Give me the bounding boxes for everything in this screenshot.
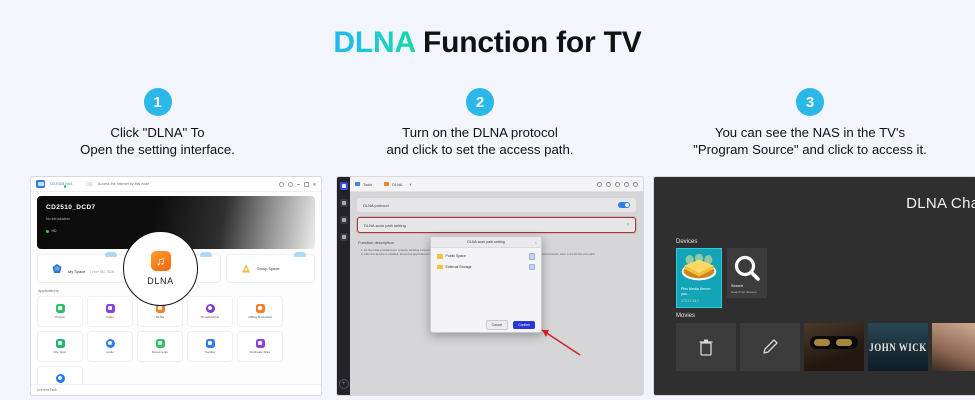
dialog-item-public-space[interactable]: Public Space	[437, 253, 535, 260]
devices-section-label: Devices	[676, 239, 697, 245]
row-label: DLNA protocol	[363, 203, 389, 208]
samba-icon	[206, 339, 215, 348]
search-sub-label: Search for devices	[731, 290, 757, 294]
space-card-group-space[interactable]: Group Space	[226, 254, 315, 283]
checkbox[interactable]	[529, 264, 536, 271]
app-label: Picture	[55, 315, 65, 319]
video-icon	[106, 304, 115, 313]
tv-heading: DLNA Chan	[906, 195, 975, 212]
row-label: DLNA scan path setting	[364, 223, 406, 228]
settings-main: Tools DLNA ▼ DLNA protocol	[350, 177, 643, 395]
my-space-label: My Space	[68, 269, 85, 274]
internet-node-label: Access the Internet by this node	[98, 182, 149, 186]
page-title-rest: Function for TV	[415, 26, 642, 59]
magnifier-callout: ♫ DLNA	[123, 231, 198, 306]
pencil-icon	[761, 338, 779, 356]
my-space-sub: 1 Free 440.78GB	[90, 270, 114, 274]
infographic-page: DLNA Function for TV 1 Click "DLNA" To O…	[0, 0, 975, 400]
app-sidebar: +	[337, 177, 350, 395]
app-label: Audio	[106, 350, 114, 354]
dlna-settings-window: + Tools DLNA ▼ DL	[337, 177, 643, 395]
space-card-my-space[interactable]: My Space 1 Free 440.78GB	[37, 254, 126, 283]
movie-poster-1[interactable]	[804, 323, 864, 371]
settings-icon[interactable]	[606, 182, 611, 187]
nas-device-status: HD	[46, 229, 306, 233]
app-label: Offline Download	[248, 315, 272, 319]
window-controls[interactable]	[597, 182, 638, 187]
chevron-right-icon: ›	[627, 222, 629, 228]
dialog-close-icon[interactable]: ×	[535, 240, 537, 245]
current-task-bar[interactable]: Current Task	[31, 384, 321, 395]
internet-node-toggle[interactable]	[85, 182, 93, 186]
app-label: Video	[106, 315, 114, 319]
group-space-label: Group Space	[257, 266, 280, 271]
movie-tile-edit[interactable]	[740, 323, 800, 371]
step-badge-2: 2	[466, 88, 494, 116]
app-tile-duplicate-files[interactable]: Duplicate Files	[237, 331, 283, 362]
minimize-icon[interactable]	[297, 184, 300, 185]
page-title: DLNA Function for TV	[0, 26, 975, 60]
files-icon	[342, 201, 346, 205]
page-title-highlight: DLNA	[333, 26, 414, 59]
folder-icon	[437, 265, 443, 270]
sidebar-item-apps[interactable]	[340, 233, 348, 241]
screenshot-step-2: + Tools DLNA ▼ DL	[336, 176, 644, 396]
help-icon[interactable]	[279, 182, 284, 187]
gear-icon	[342, 218, 346, 222]
tab-bar: Tools DLNA ▼	[350, 177, 643, 192]
my-space-icon	[51, 263, 63, 275]
current-task-label: Current Task	[37, 388, 57, 392]
dialog-footer: Cancel Confirm	[431, 318, 541, 332]
step-badge-1: 1	[144, 88, 172, 116]
tv-dlna-channel: DLNA Chan Devices Plex Media Server: pos…	[654, 177, 975, 395]
dialog-item-external-storage[interactable]: External Storage	[437, 264, 535, 271]
app-label: TimeMachine	[201, 315, 219, 319]
tab-tools[interactable]: Tools	[355, 182, 372, 187]
audio-icon	[106, 339, 115, 348]
app-tile-video[interactable]: Video	[87, 296, 133, 327]
maximize-icon[interactable]	[624, 182, 629, 187]
confirm-button[interactable]: Confirm	[513, 321, 535, 329]
row-dlna-protocol[interactable]: DLNA protocol	[357, 198, 636, 212]
movies-row: JOHN WICK	[676, 323, 975, 371]
dialog-item-label: Public Space	[446, 254, 466, 258]
movie-poster-3[interactable]	[932, 323, 975, 371]
movie-tile-delete[interactable]	[676, 323, 736, 371]
devices-tiles: Plex Media Server: pos... 172.27.13.7 Se…	[676, 248, 767, 308]
magnifier-label: DLNA	[147, 276, 173, 286]
app-tile-audio[interactable]: Audio	[87, 331, 133, 362]
sidebar-item-files[interactable]	[340, 199, 348, 207]
step-badge-3: 3	[796, 88, 824, 116]
row-dlna-scan-path[interactable]: DLNA scan path setting ›	[357, 217, 636, 233]
app-tile-timemachine[interactable]: TimeMachine	[187, 296, 233, 327]
nas-brand-label: CD-ROM NAS	[50, 182, 73, 186]
app-label: Samba	[205, 350, 215, 354]
sidebar-item-settings[interactable]	[340, 216, 348, 224]
tab-label: DLNA	[392, 182, 402, 187]
nas-online-dot-icon	[64, 185, 67, 188]
search-tile[interactable]: Search Search for devices	[727, 248, 767, 298]
app-tile-file-sync[interactable]: File Sync	[37, 331, 83, 362]
tab-overflow-icon[interactable]: ▼	[408, 182, 412, 187]
sidebar-item-home[interactable]	[340, 182, 348, 190]
settings-content: DLNA protocol DLNA scan path setting › F…	[350, 192, 643, 395]
movie-poster-john-wick[interactable]: JOHN WICK	[868, 323, 928, 371]
app-tile-offline-download[interactable]: Offline Download	[237, 296, 283, 327]
close-icon[interactable]	[633, 182, 638, 187]
documents-icon	[156, 339, 165, 348]
dlna-app-icon: ♫	[151, 251, 171, 271]
dlna-protocol-toggle[interactable]	[618, 202, 630, 208]
step-caption-3: You can see the NAS in the TV's "Program…	[693, 125, 927, 158]
offline-download-icon	[256, 304, 265, 313]
dialog-item-label: External Storage	[446, 265, 472, 269]
checkbox[interactable]	[529, 253, 536, 260]
tools-tab-icon	[355, 182, 360, 187]
app-tile-documents[interactable]: Documents	[137, 331, 183, 362]
device-tile-plex[interactable]: Plex Media Server: pos... 172.27.13.7	[676, 248, 722, 308]
tab-label: Tools	[363, 182, 372, 187]
app-tile-picture[interactable]: Picture	[37, 296, 83, 327]
movies-section-label: Movies	[676, 313, 695, 319]
step-caption-2: Turn on the DLNA protocol and click to s…	[387, 125, 574, 158]
folder-icon	[437, 254, 443, 259]
nas-desktop-window: CD-ROM NAS Access the Internet by this n…	[31, 177, 321, 395]
add-icon[interactable]: +	[339, 379, 349, 389]
trash-icon	[698, 338, 714, 356]
app-tile-samba[interactable]: Samba	[187, 331, 233, 362]
applications-grid: Picture Video DLNA TimeMachine Offline D…	[37, 296, 315, 396]
dialog-titlebar: DLNA scan path setting ×	[431, 237, 541, 248]
device-ip: 172.27.13.7	[681, 299, 699, 303]
recycle-bin-icon	[56, 374, 65, 383]
app-label: Duplicate Files	[250, 350, 270, 354]
nas-window-titlebar: CD-ROM NAS Access the Internet by this n…	[31, 177, 321, 192]
plex-media-server-icon	[679, 254, 719, 284]
device-name: Plex Media Server: pos...	[681, 287, 719, 297]
nas-logo-icon	[36, 180, 45, 188]
minimize-icon[interactable]	[615, 182, 620, 187]
screenshot-step-1: CD-ROM NAS Access the Internet by this n…	[30, 176, 322, 396]
tab-dlna[interactable]: DLNA	[384, 182, 402, 187]
nas-device-intro: No introduction	[46, 217, 306, 221]
timemachine-icon	[206, 304, 215, 313]
search-label: Search	[731, 284, 743, 288]
nas-device-name: CD2510_DCD7	[46, 204, 306, 211]
home-icon	[342, 184, 346, 188]
group-space-icon	[240, 263, 252, 275]
dlna-tab-icon	[384, 182, 389, 187]
help-icon[interactable]	[597, 182, 602, 187]
duplicate-files-icon	[256, 339, 265, 348]
cancel-button[interactable]: Cancel	[486, 320, 509, 330]
picture-icon	[56, 304, 65, 313]
file-sync-icon	[56, 339, 65, 348]
dialog-title: DLNA scan path setting	[467, 240, 505, 244]
app-label: File Sync	[54, 350, 67, 354]
app-label: DLNA	[156, 315, 164, 319]
step-caption-1: Click "DLNA" To Open the setting interfa…	[80, 125, 235, 158]
maximize-icon[interactable]	[304, 182, 309, 187]
screenshot-step-3: DLNA Chan Devices Plex Media Server: pos…	[653, 176, 975, 396]
dialog-body: Public Space External Storage	[431, 248, 541, 318]
close-icon[interactable]	[313, 183, 316, 186]
apps-icon	[342, 235, 346, 239]
space-card-text: My Space 1 Free 440.78GB	[68, 260, 114, 278]
movie-poster-title: JOHN WICK	[869, 341, 927, 354]
scan-path-dialog: DLNA scan path setting × Public Space	[430, 236, 542, 333]
settings-icon[interactable]	[288, 182, 293, 187]
app-label: Documents	[152, 350, 168, 354]
window-controls[interactable]	[279, 182, 316, 187]
